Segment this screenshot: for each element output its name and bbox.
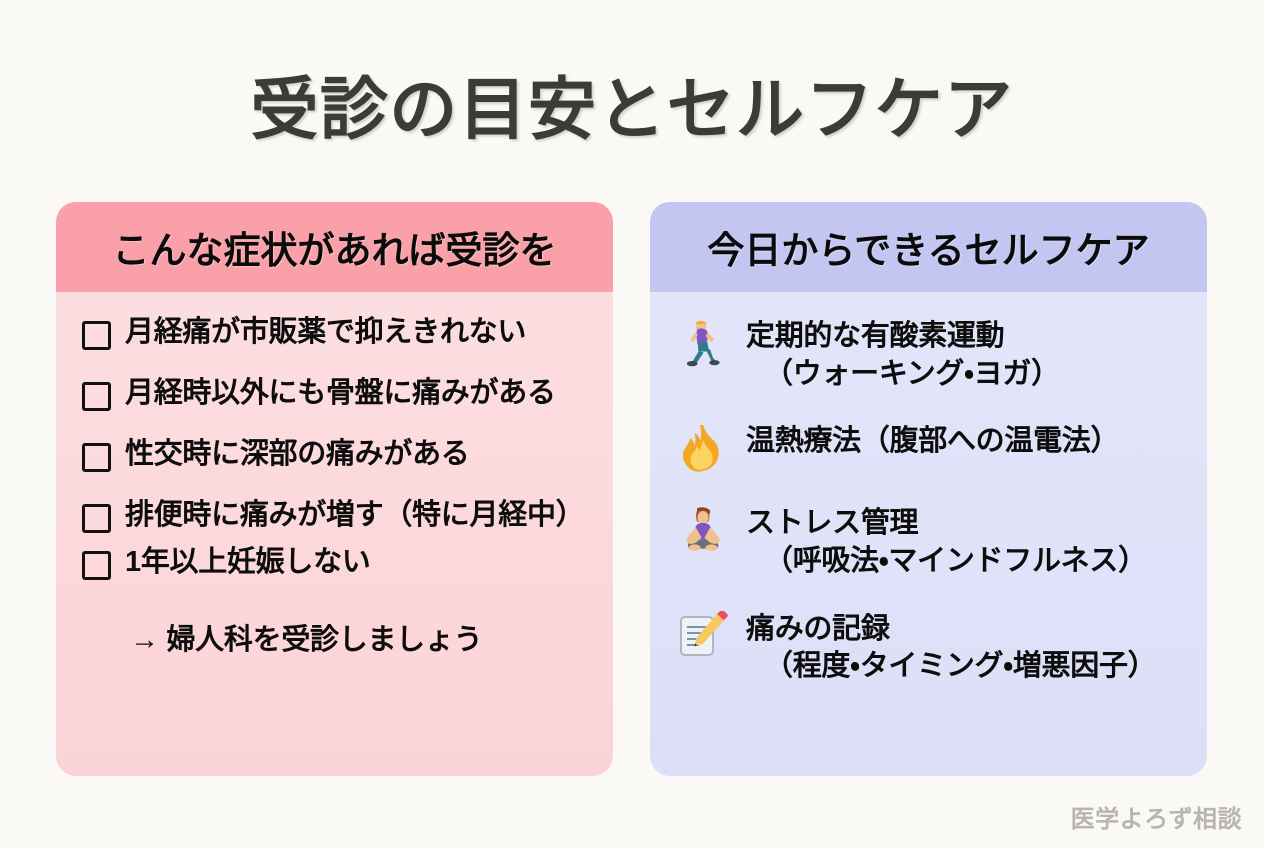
memo-icon — [676, 609, 730, 663]
symptom-checklist: 月経痛が市販薬で抑えきれない 月経時以外にも骨盤に痛みがある 性交時に深部の痛み… — [82, 314, 587, 582]
list-item[interactable]: ストレス管理 （呼吸法・マインドフルネス） — [676, 501, 1181, 580]
list-item-label: ストレス管理 （呼吸法・マインドフルネス） — [746, 501, 1147, 580]
person-lotus-position-icon — [676, 503, 730, 557]
list-item-label: 排便時に痛みが増す（特に月経中） — [125, 497, 584, 534]
watermark: 医学よろず相談 — [1071, 799, 1242, 834]
walking-person-icon — [676, 316, 730, 370]
list-item[interactable]: 痛みの記録 （程度・タイミング・増悪因子） — [676, 607, 1181, 686]
slide-root: 受診の目安とセルフケア こんな症状があれば受診を 月経痛が市販薬で抑えきれない … — [0, 0, 1264, 848]
selfcare-panel: 今日からできるセルフケア — [650, 202, 1207, 776]
checkbox-icon[interactable] — [82, 551, 111, 580]
list-item-label: 月経痛が市販薬で抑えきれない — [125, 314, 526, 351]
list-item-label: 1年以上妊娠しない — [125, 544, 371, 581]
list-item-label: 性交時に深部の痛みがある — [125, 436, 470, 473]
list-item[interactable]: 1年以上妊娠しない — [82, 544, 587, 581]
checkbox-icon[interactable] — [82, 504, 111, 533]
page-title: 受診の目安とセルフケア — [0, 54, 1264, 153]
checkbox-icon[interactable] — [82, 321, 111, 350]
referral-note: → 婦人科を受診しましょう — [82, 616, 587, 658]
selfcare-item-title: 温熱療法（腹部への温電法） — [746, 425, 1119, 457]
selfcare-item-subtitle: （呼吸法・マインドフルネス） — [746, 543, 1147, 581]
checkbox-icon[interactable] — [82, 382, 111, 411]
symptoms-panel-body: 月経痛が市販薬で抑えきれない 月経時以外にも骨盤に痛みがある 性交時に深部の痛み… — [56, 292, 613, 776]
list-item[interactable]: 月経時以外にも骨盤に痛みがある — [82, 375, 587, 412]
selfcare-item-subtitle: （ウォーキング・ヨガ） — [746, 356, 1060, 394]
selfcare-item-title: 定期的な有酸素運動 — [746, 320, 1004, 352]
list-item-label: 定期的な有酸素運動 （ウォーキング・ヨガ） — [746, 314, 1060, 393]
list-item-label: 月経時以外にも骨盤に痛みがある — [125, 375, 556, 412]
selfcare-item-title: 痛みの記録 — [746, 613, 890, 645]
list-item[interactable]: 排便時に痛みが増す（特に月経中） — [82, 497, 587, 534]
list-item[interactable]: 性交時に深部の痛みがある — [82, 436, 587, 473]
list-item[interactable]: 温熱療法（腹部への温電法） — [676, 419, 1181, 475]
selfcare-list: 定期的な有酸素運動 （ウォーキング・ヨガ） 温熱療法（腹部への温電法） — [676, 314, 1181, 686]
selfcare-panel-body: 定期的な有酸素運動 （ウォーキング・ヨガ） 温熱療法（腹部への温電法） — [650, 292, 1207, 776]
checkbox-icon[interactable] — [82, 443, 111, 472]
selfcare-item-subtitle: （程度・タイミング・増悪因子） — [746, 648, 1156, 686]
list-item-label: 温熱療法（腹部への温電法） — [746, 419, 1119, 461]
list-item-label: 痛みの記録 （程度・タイミング・増悪因子） — [746, 607, 1156, 686]
list-item[interactable]: 定期的な有酸素運動 （ウォーキング・ヨガ） — [676, 314, 1181, 393]
symptoms-panel: こんな症状があれば受診を 月経痛が市販薬で抑えきれない 月経時以外にも骨盤に痛み… — [56, 202, 613, 776]
selfcare-item-title: ストレス管理 — [746, 507, 918, 539]
fire-icon — [676, 421, 730, 475]
selfcare-panel-header: 今日からできるセルフケア — [650, 202, 1207, 292]
list-item[interactable]: 月経痛が市販薬で抑えきれない — [82, 314, 587, 351]
symptoms-panel-header: こんな症状があれば受診を — [56, 202, 613, 292]
